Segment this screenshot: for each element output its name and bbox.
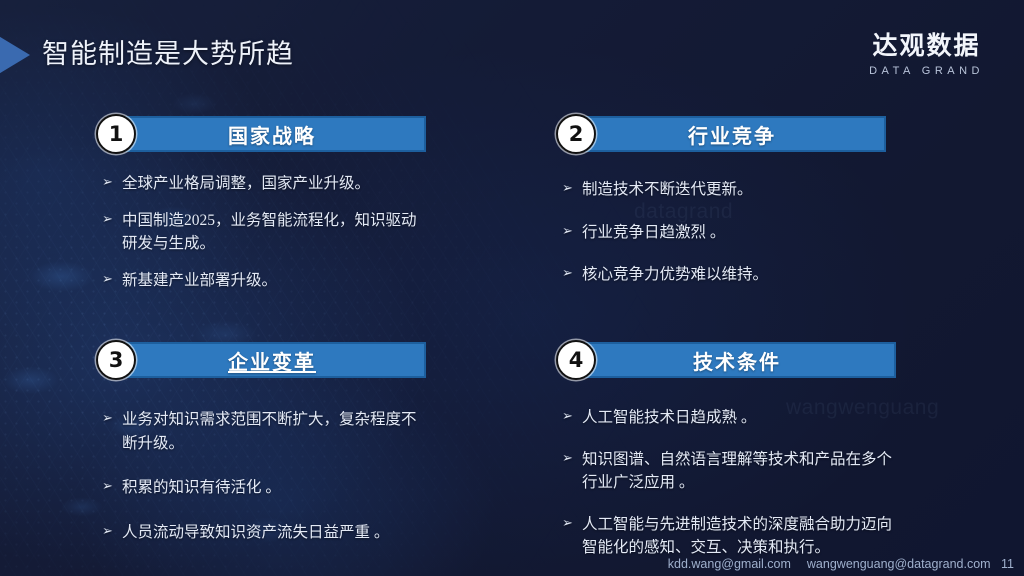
list-item: ➢ 人工智能与先进制造技术的深度融合助力迈向智能化的感知、交互、决策和执行。 xyxy=(556,513,896,560)
block-number-badge-4: 4 xyxy=(556,340,596,380)
footer-email-personal: kdd.wang@gmail.com xyxy=(668,557,791,571)
footer-email-work: wangwenguang@datagrand.com xyxy=(807,557,991,571)
brand-name-cn: 达观数据 xyxy=(869,26,984,62)
arrow-bullet-icon: ➢ xyxy=(96,209,122,256)
content-block-4: 4 技术条件 ➢ 人工智能技术日趋成熟 。 ➢ 知识图谱、自然语言理解等技术和产… xyxy=(556,342,896,576)
list-item: ➢ 全球产业格局调整，国家产业升级。 xyxy=(96,172,426,196)
list-item-text: 积累的知识有待活化 。 xyxy=(122,476,426,500)
list-item: ➢ 行业竞争日趋激烈 。 xyxy=(556,221,886,245)
list-item-text: 人员流动导致知识资产流失日益严重 。 xyxy=(122,521,426,545)
list-item-text: 人工智能技术日趋成熟 。 xyxy=(582,406,896,430)
block-title-1: 国家战略 xyxy=(206,120,316,149)
block-title-2: 行业竞争 xyxy=(666,120,776,149)
arrow-bullet-icon: ➢ xyxy=(556,221,582,245)
list-item: ➢ 知识图谱、自然语言理解等技术和产品在多个行业广泛应用 。 xyxy=(556,448,896,495)
arrow-bullet-icon: ➢ xyxy=(96,521,122,545)
list-item-text: 知识图谱、自然语言理解等技术和产品在多个行业广泛应用 。 xyxy=(582,448,896,495)
block-number-badge-3: 3 xyxy=(96,340,136,380)
list-item-text: 全球产业格局调整，国家产业升级。 xyxy=(122,172,426,196)
content-block-3: 3 企业变革 ➢ 业务对知识需求范围不断扩大，复杂程度不断升级。 ➢ 积累的知识… xyxy=(96,342,426,565)
block-header-4: 4 技术条件 xyxy=(556,342,896,378)
list-item: ➢ 核心竞争力优势难以维持。 xyxy=(556,263,886,287)
list-item-text: 人工智能与先进制造技术的深度融合助力迈向智能化的感知、交互、决策和执行。 xyxy=(582,513,896,560)
block-title-4: 技术条件 xyxy=(671,346,781,375)
block-title-3: 企业变革 xyxy=(206,346,316,375)
list-item: ➢ 制造技术不断迭代更新。 xyxy=(556,178,886,202)
list-item-text: 行业竞争日趋激烈 。 xyxy=(582,221,886,245)
list-item-text: 业务对知识需求范围不断扩大，复杂程度不断升级。 xyxy=(122,408,426,455)
arrow-bullet-icon: ➢ xyxy=(556,448,582,495)
bullet-list-4: ➢ 人工智能技术日趋成熟 。 ➢ 知识图谱、自然语言理解等技术和产品在多个行业广… xyxy=(556,406,896,560)
list-item: ➢ 积累的知识有待活化 。 xyxy=(96,476,426,500)
bullet-list-3: ➢ 业务对知识需求范围不断扩大，复杂程度不断升级。 ➢ 积累的知识有待活化 。 … xyxy=(96,408,426,544)
arrow-bullet-icon: ➢ xyxy=(96,172,122,196)
arrow-bullet-icon: ➢ xyxy=(96,269,122,293)
list-item: ➢ 中国制造2025，业务智能流程化，知识驱动研发与生成。 xyxy=(96,209,426,256)
list-item-text: 新基建产业部署升级。 xyxy=(122,269,426,293)
arrow-bullet-icon: ➢ xyxy=(96,476,122,500)
list-item-text: 制造技术不断迭代更新。 xyxy=(582,178,886,202)
arrow-bullet-icon: ➢ xyxy=(556,513,582,560)
footer-contact: kdd.wang@gmail.com wangwenguang@datagran… xyxy=(668,557,1014,571)
bullet-list-1: ➢ 全球产业格局调整，国家产业升级。 ➢ 中国制造2025，业务智能流程化，知识… xyxy=(96,172,426,292)
block-number-badge-2: 2 xyxy=(556,114,596,154)
arrow-bullet-icon: ➢ xyxy=(556,406,582,430)
list-item: ➢ 新基建产业部署升级。 xyxy=(96,269,426,293)
list-item-text: 核心竞争力优势难以维持。 xyxy=(582,263,886,287)
block-number-badge-1: 1 xyxy=(96,114,136,154)
page-title: 智能制造是大势所趋 xyxy=(42,32,294,71)
block-header-1: 1 国家战略 xyxy=(96,116,426,152)
bullet-list-2: ➢ 制造技术不断迭代更新。 ➢ 行业竞争日趋激烈 。 ➢ 核心竞争力优势难以维持… xyxy=(556,178,886,287)
brand-logo: 达观数据 DATA GRAND xyxy=(869,26,984,77)
right-triangle-icon xyxy=(0,32,30,78)
list-item: ➢ 人员流动导致知识资产流失日益严重 。 xyxy=(96,521,426,545)
footer-spacer xyxy=(994,557,997,571)
list-item-text: 中国制造2025，业务智能流程化，知识驱动研发与生成。 xyxy=(122,209,426,256)
arrow-bullet-icon: ➢ xyxy=(556,178,582,202)
list-item: ➢ 业务对知识需求范围不断扩大，复杂程度不断升级。 xyxy=(96,408,426,455)
footer-page-number: 11 xyxy=(1001,557,1014,571)
arrow-bullet-icon: ➢ xyxy=(556,263,582,287)
arrow-bullet-icon: ➢ xyxy=(96,408,122,455)
brand-name-en: DATA GRAND xyxy=(869,65,984,77)
content-block-1: 1 国家战略 ➢ 全球产业格局调整，国家产业升级。 ➢ 中国制造2025，业务智… xyxy=(96,116,426,305)
content-block-2: 2 行业竞争 ➢ 制造技术不断迭代更新。 ➢ 行业竞争日趋激烈 。 ➢ 核心竞争… xyxy=(556,116,886,306)
block-header-3: 3 企业变革 xyxy=(96,342,426,378)
block-header-2: 2 行业竞争 xyxy=(556,116,886,152)
slide-canvas: 智能制造是大势所趋 达观数据 DATA GRAND datagrand wang… xyxy=(0,0,1024,576)
list-item: ➢ 人工智能技术日趋成熟 。 xyxy=(556,406,896,430)
